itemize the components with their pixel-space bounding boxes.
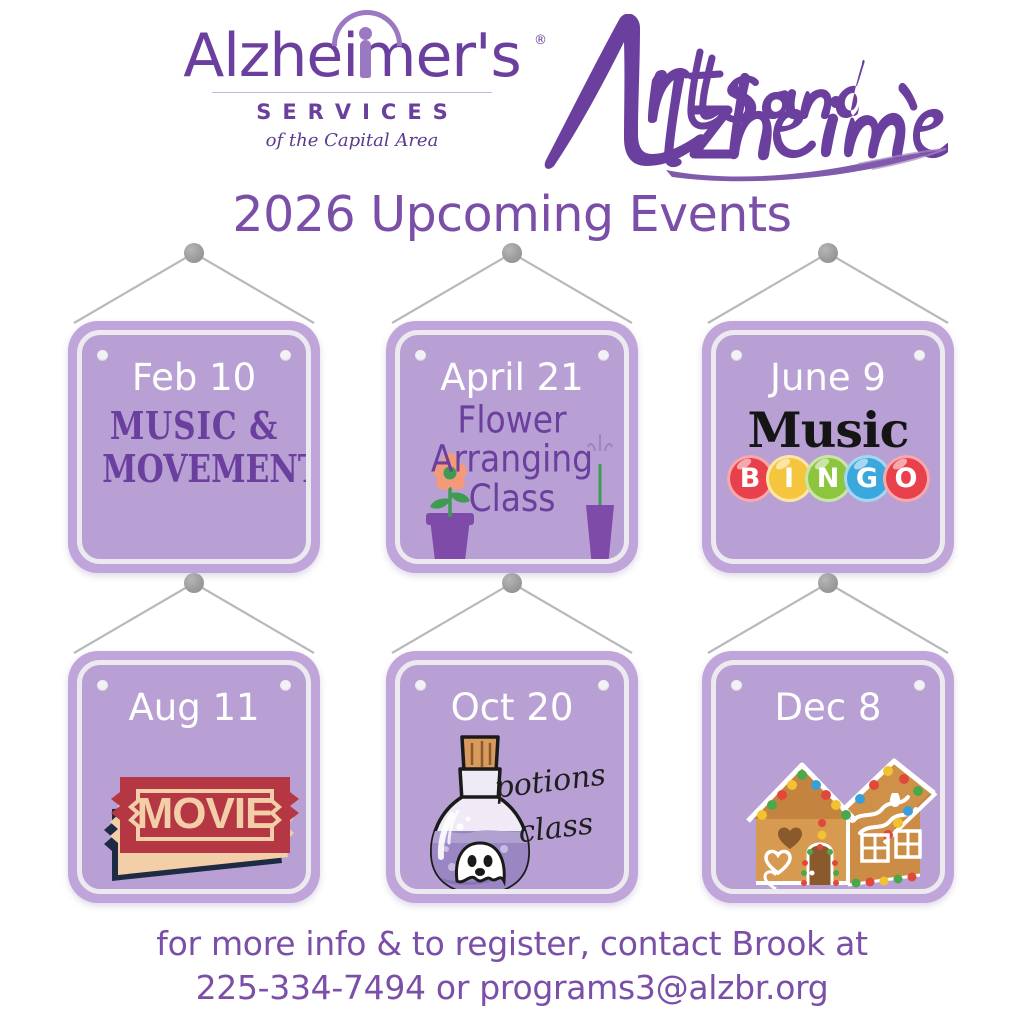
person-dot-icon [360, 40, 371, 78]
nail-icon [818, 573, 838, 593]
sign-board: Aug 11 MOVIE [68, 651, 320, 903]
footer-line1: for more info & to register, contact Bro… [0, 922, 1024, 966]
footer-line2: 225-334-7494 or programs3@alzbr.org [0, 966, 1024, 1010]
event-card-june[interactable]: June 9 Music BINGO [666, 243, 990, 582]
event-date: Oct 20 [400, 686, 624, 729]
hanger [32, 573, 356, 661]
event-title-line3: Class [400, 479, 624, 518]
sign-frame: Feb 10 MUSIC & MOVEMENT [77, 330, 311, 564]
sign-frame: June 9 Music BINGO [711, 330, 945, 564]
event-title-line2: MOVEMENT [102, 448, 286, 491]
event-title-line2: Arranging [400, 440, 624, 479]
sign-frame: Aug 11 MOVIE [77, 660, 311, 894]
event-artwork-music-movement: MUSIC & MOVEMENT [82, 401, 306, 555]
arts-logo-artwork [528, 14, 948, 182]
logo-services-text: SERVICES [172, 100, 532, 124]
alzheimers-wordmark: Alzheimer's ® [172, 26, 532, 86]
event-date: Aug 11 [82, 686, 306, 729]
hanger [666, 243, 990, 331]
page-title: 2026 Upcoming Events [0, 186, 1024, 243]
sign-board: Feb 10 MUSIC & MOVEMENT [68, 321, 320, 573]
event-artwork-potion-bottle: potions class [400, 731, 624, 885]
header: Alzheimer's ® SERVICES of the Capital Ar… [0, 0, 1024, 182]
events-grid: Feb 10 MUSIC & MOVEMENT [0, 243, 1024, 921]
event-title: Flower Arranging Class [400, 401, 624, 518]
flyer-page: Alzheimer's ® SERVICES of the Capital Ar… [0, 0, 1024, 1021]
arts-and-alzheimers-logo [528, 14, 948, 182]
bingo-ball-o: O [883, 455, 930, 502]
event-card-aug[interactable]: Aug 11 MOVIE [32, 573, 356, 912]
sign-board: June 9 Music BINGO [702, 321, 954, 573]
movie-ticket-icon: MOVIE [82, 735, 311, 894]
event-card-dec[interactable]: Dec 8 [666, 573, 990, 912]
event-date: June 9 [716, 356, 940, 399]
event-artwork-movie-ticket: MOVIE [82, 731, 306, 885]
sign-frame: Dec 8 [711, 660, 945, 894]
event-date: Dec 8 [716, 686, 940, 729]
hanger [350, 243, 674, 331]
event-artwork-music-bingo: Music BINGO [716, 401, 940, 555]
event-title-line1: MUSIC & [102, 405, 286, 448]
hanger [350, 573, 674, 661]
footer-contact: for more info & to register, contact Bro… [0, 922, 1024, 1009]
sign-frame: April 21 [395, 330, 629, 564]
nail-icon [502, 573, 522, 593]
hanger [32, 243, 356, 331]
event-title-line1: Flower [400, 401, 624, 440]
event-date: Feb 10 [82, 356, 306, 399]
sign-board: April 21 [386, 321, 638, 573]
gingerbread-house-icon [732, 737, 942, 894]
alzheimers-services-logo: Alzheimer's ® SERVICES of the Capital Ar… [172, 26, 532, 151]
sign-board: Oct 20 [386, 651, 638, 903]
event-card-feb[interactable]: Feb 10 MUSIC & MOVEMENT [32, 243, 356, 582]
sign-frame: Oct 20 [395, 660, 629, 894]
event-card-oct[interactable]: Oct 20 [350, 573, 674, 912]
nail-icon [184, 573, 204, 593]
sign-board: Dec 8 [702, 651, 954, 903]
logo-tagline: of the Capital Area [172, 130, 532, 151]
event-date: April 21 [400, 356, 624, 399]
nail-icon [184, 243, 204, 263]
nail-icon [818, 243, 838, 263]
event-card-april[interactable]: April 21 [350, 243, 674, 582]
nail-icon [502, 243, 522, 263]
event-title-music: Music [716, 401, 940, 459]
ticket-label: MOVIE [137, 789, 274, 838]
event-title: MUSIC & MOVEMENT [102, 405, 286, 490]
hanger [666, 573, 990, 661]
event-artwork-flower-arranging: Flower Arranging Class [400, 401, 624, 555]
logo-divider [212, 92, 492, 93]
bingo-balls: BINGO [716, 455, 940, 502]
event-title: potions class [489, 752, 617, 859]
event-artwork-gingerbread-house [716, 731, 940, 885]
